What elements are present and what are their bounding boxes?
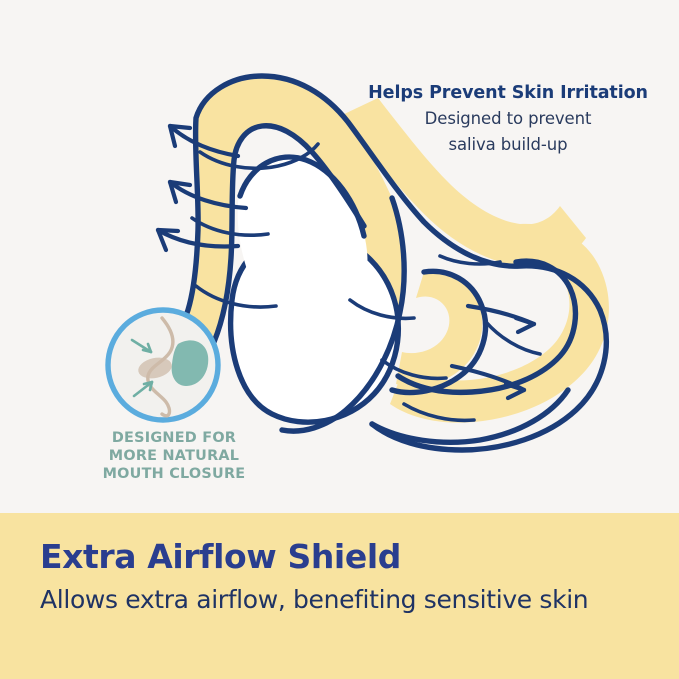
mouth-closure-inset xyxy=(108,310,218,420)
callout-title: Helps Prevent Skin Irritation xyxy=(358,82,658,105)
inset-caption-line-3: Mouth Closure xyxy=(88,465,260,483)
inset-caption-line-2: More Natural xyxy=(88,447,260,465)
callout-line-1: Designed to prevent xyxy=(358,108,658,130)
inset-caption: Designed for More Natural Mouth Closure xyxy=(88,429,260,483)
callout-text-block: Helps Prevent Skin Irritation Designed t… xyxy=(358,82,658,156)
callout-line-2: saliva build-up xyxy=(358,134,658,156)
inset-caption-line-1: Designed for xyxy=(88,429,260,447)
banner-subtitle: Allows extra airflow, benefiting sensiti… xyxy=(40,585,588,614)
illustration-area: .yel { fill:#F9E3A1; } .wht { fill:#FFFF… xyxy=(0,0,679,513)
banner-title: Extra Airflow Shield xyxy=(40,537,401,576)
bottom-banner: Extra Airflow Shield Allows extra airflo… xyxy=(0,513,679,679)
infographic-canvas: .yel { fill:#F9E3A1; } .wht { fill:#FFFF… xyxy=(0,0,679,679)
